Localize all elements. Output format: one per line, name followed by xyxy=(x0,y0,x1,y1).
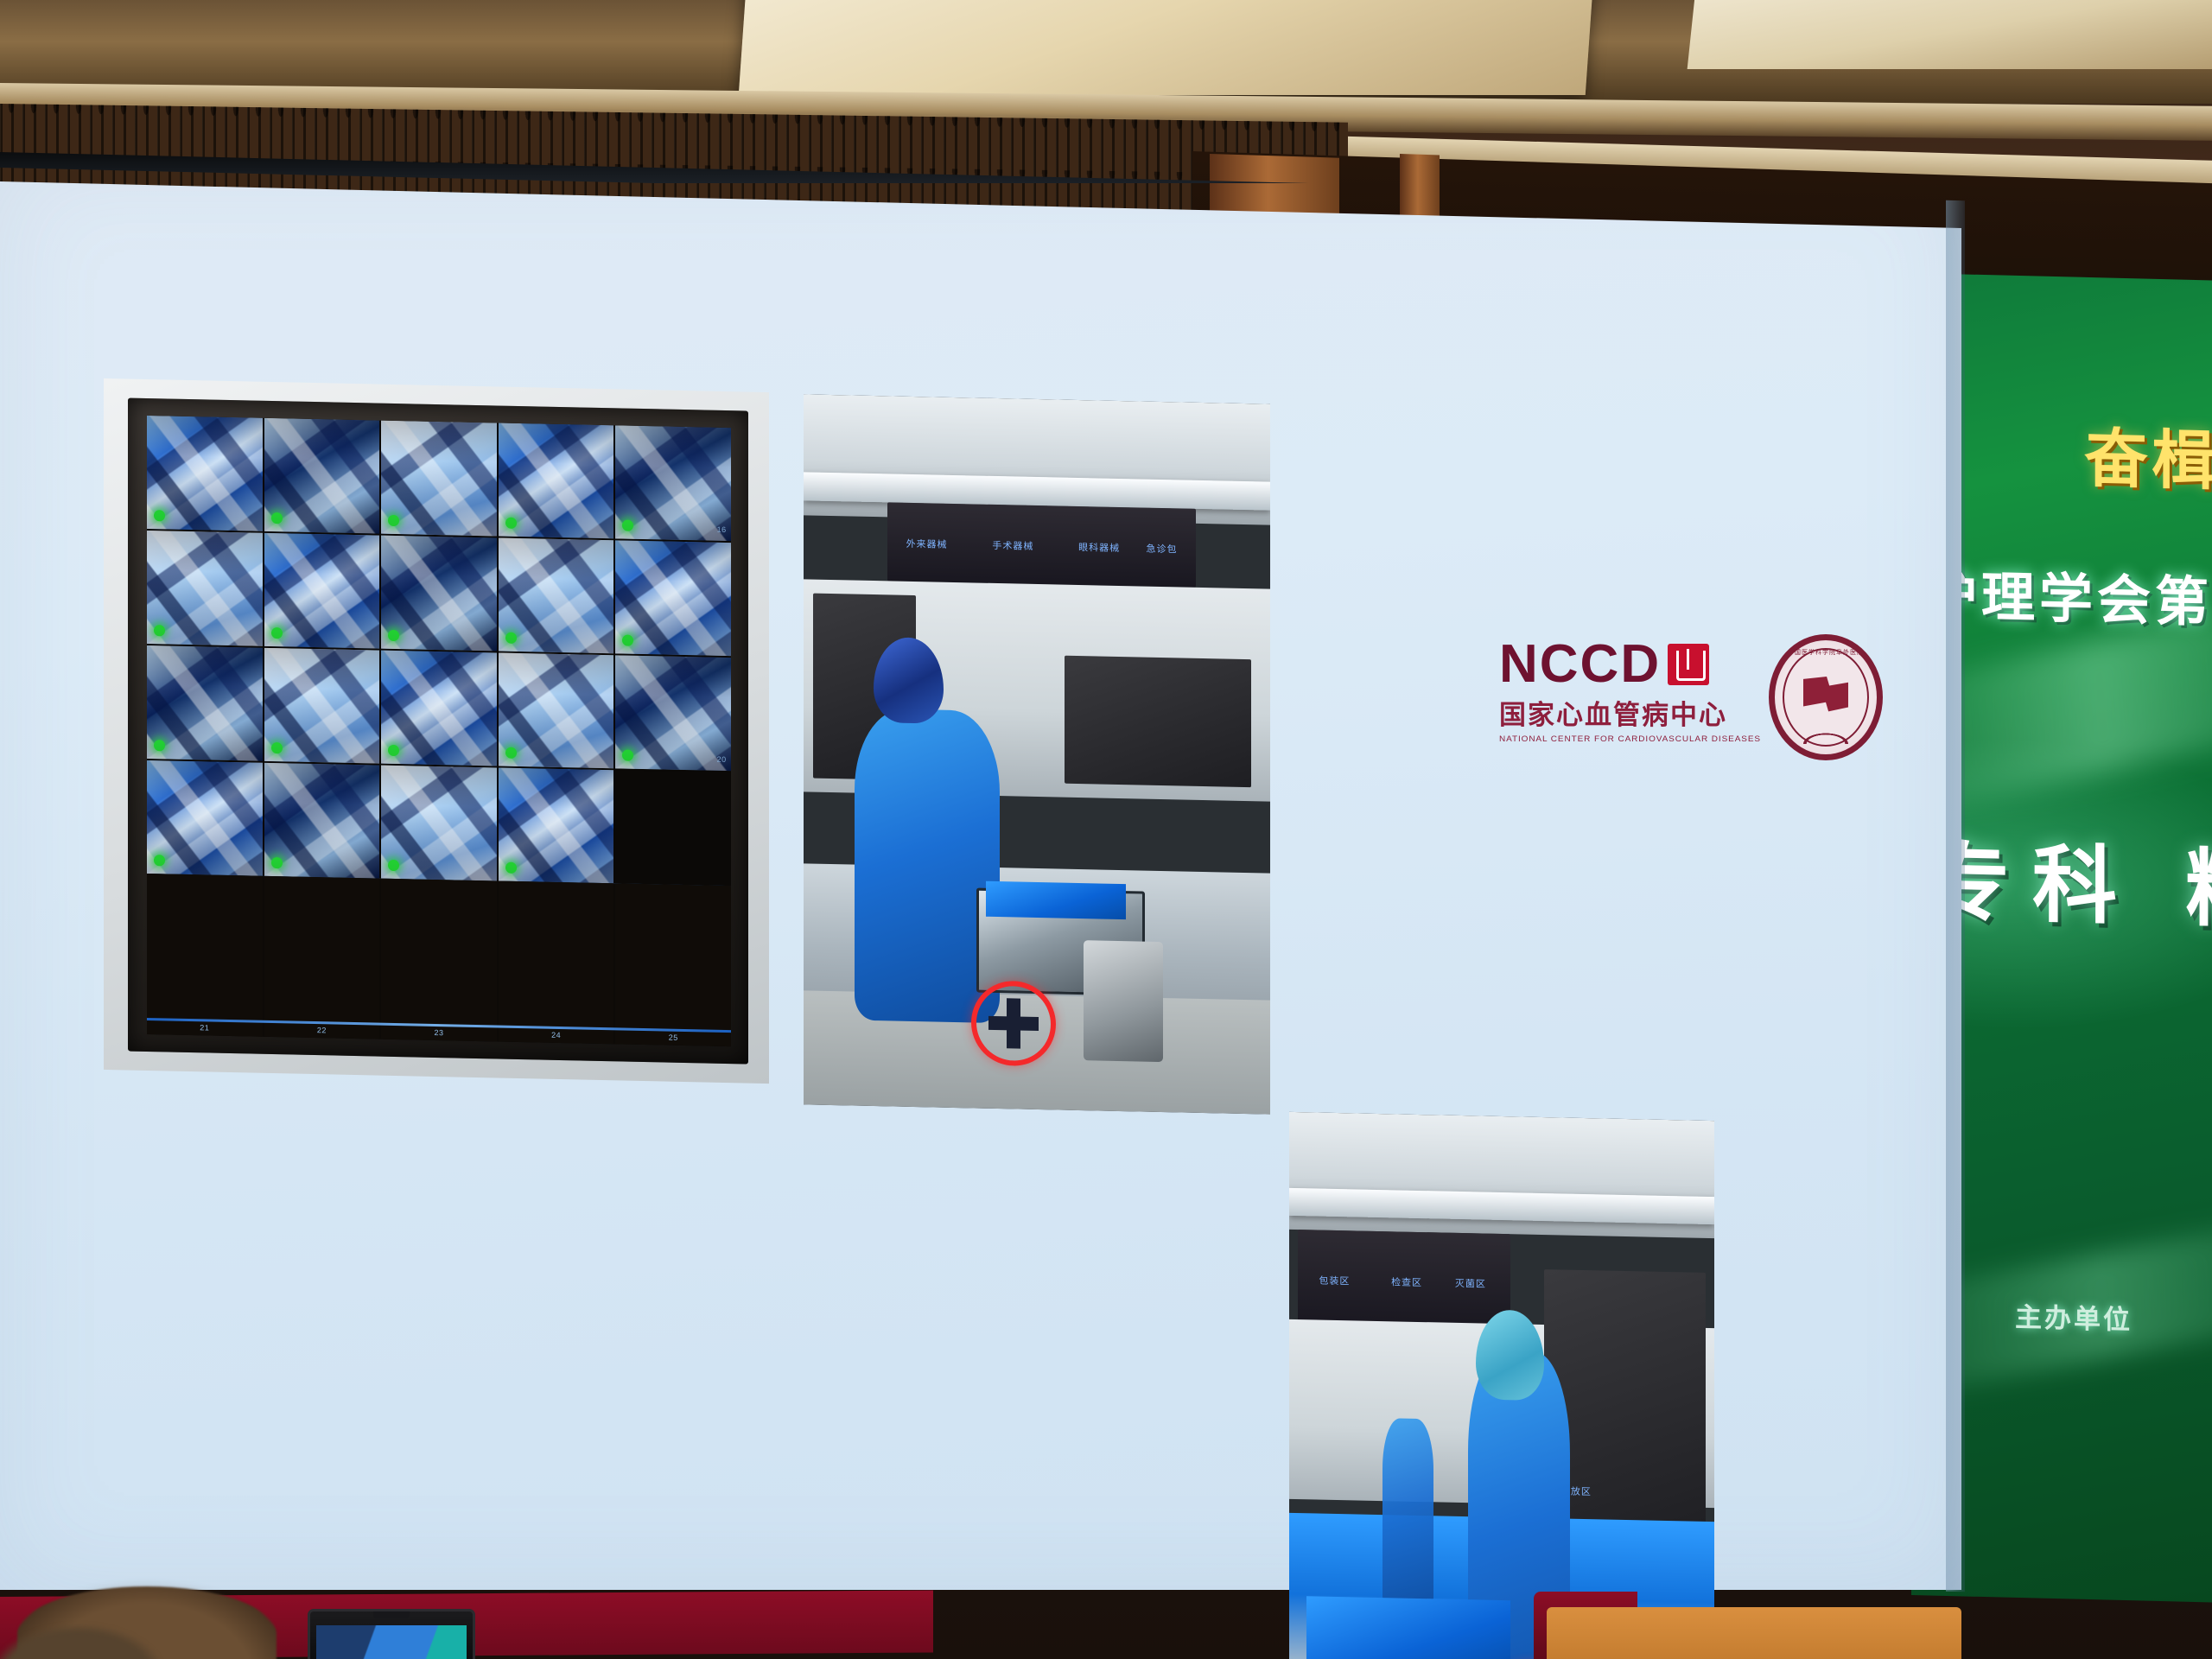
feed-status-dot xyxy=(388,630,399,641)
cctv-empty-cell[interactable]: 23 xyxy=(381,879,497,1042)
cctv-feed-cell[interactable] xyxy=(264,648,380,764)
feed-status-dot xyxy=(505,632,517,643)
cctv-empty-cell[interactable]: 25 xyxy=(615,883,731,1046)
shelf-label: 外来器械 xyxy=(906,537,948,551)
feed-label: 16 xyxy=(717,525,727,534)
feed-status-dot xyxy=(622,519,633,531)
feed-status-dot xyxy=(271,742,283,753)
empty-cell-label: 24 xyxy=(551,1031,561,1039)
seal-arc-text: 中国医学科学院阜外医院 xyxy=(1775,648,1877,657)
cctv-feed-cell[interactable]: 16 xyxy=(615,425,731,541)
cctv-feed-cell[interactable] xyxy=(147,760,263,876)
feed-status-dot xyxy=(505,517,517,528)
seal-flag-emblem xyxy=(1803,677,1848,718)
cctv-empty-cell[interactable]: 24 xyxy=(499,880,614,1044)
nccd-english-name: NATIONAL CENTER FOR CARDIOVASCULAR DISEA… xyxy=(1499,735,1761,744)
shelf-label: 包装区 xyxy=(1319,1274,1350,1288)
empty-cell-label: 23 xyxy=(434,1028,443,1037)
cctv-feed-cell[interactable] xyxy=(264,763,380,879)
nccd-logo: NCCD 国家心血管病中心 NATIONAL CENTER FOR CARDIO… xyxy=(1499,639,1761,745)
monitor-screen: 16 20 xyxy=(147,416,731,1046)
cctv-feed-cell[interactable] xyxy=(381,651,497,766)
feed-label: 20 xyxy=(717,755,727,764)
nccd-emblem-icon xyxy=(1668,644,1709,685)
ceiling-light-coffer xyxy=(739,0,1594,95)
cctv-feed-grid: 16 20 xyxy=(147,416,731,886)
cctv-feed-cell[interactable] xyxy=(499,767,614,883)
feed-status-dot xyxy=(388,860,399,871)
cctv-feed-cell[interactable] xyxy=(381,766,497,881)
fuwai-hospital-seal-icon: 中国医学科学院阜外医院 xyxy=(1769,634,1883,760)
cctv-feed-cell[interactable] xyxy=(381,536,497,652)
photo-surgical-cap-icon xyxy=(1476,1309,1544,1401)
monitor-bezel: 16 20 xyxy=(128,398,748,1065)
feed-status-dot xyxy=(388,515,399,526)
feed-status-dot xyxy=(622,634,633,645)
photo-blue-drape xyxy=(1306,1596,1510,1659)
photo-labeled-shelf: 包装区 检查区 灭菌区 xyxy=(1298,1230,1510,1331)
cctv-feed-cell[interactable] xyxy=(147,416,263,531)
shelf-label: 手术器械 xyxy=(992,538,1033,553)
feed-status-dot xyxy=(271,857,283,868)
cctv-feed-cell[interactable] xyxy=(499,423,614,539)
ceiling-light-coffer-right xyxy=(1688,0,2212,69)
feed-status-dot xyxy=(388,745,399,756)
photo-background-staff-figure xyxy=(1382,1418,1433,1612)
seal-laurel-icon xyxy=(1775,715,1877,744)
presentation-slide: NCCD 国家心血管病中心 NATIONAL CENTER FOR CARDIO… xyxy=(0,156,1961,1590)
cctv-feed-cell[interactable] xyxy=(499,652,614,768)
panel-seated-nurse-photo: 外来器械 手术器械 眼科器械 急诊包 xyxy=(804,394,1270,1114)
cctv-empty-cell[interactable]: 21 xyxy=(147,874,263,1037)
cctv-feed-cell[interactable] xyxy=(147,645,263,761)
cctv-feed-cell[interactable]: 20 xyxy=(615,655,731,771)
shelf-label: 眼科器械 xyxy=(1078,540,1120,555)
conference-hall-scene: 奋楫 中华护理学会第 专科 精 主办单位 NCCD 国家心血管病中心 NATIO… xyxy=(0,0,2212,1659)
feed-status-dot xyxy=(154,740,165,751)
shelf-label: 灭菌区 xyxy=(1455,1276,1486,1291)
photo-storage-bin xyxy=(1084,940,1163,1063)
feed-status-dot xyxy=(154,625,165,636)
cctv-feed-cell[interactable] xyxy=(499,537,614,653)
banner-theme-line: 专科 精 xyxy=(1925,813,2212,944)
photo-labeled-shelf: 外来器械 手术器械 眼科器械 急诊包 xyxy=(887,503,1195,588)
cctv-empty-cell[interactable]: 22 xyxy=(264,876,380,1039)
empty-cell-label: 25 xyxy=(669,1033,678,1042)
slide-logo-group: NCCD 国家心血管病中心 NATIONAL CENTER FOR CARDIO… xyxy=(1499,639,1862,752)
cctv-feed-cell[interactable] xyxy=(147,531,263,646)
phone-camera-icon xyxy=(373,1609,410,1618)
banner-organizer-label: 主办单位 xyxy=(2015,1295,2133,1337)
feed-status-dot xyxy=(505,861,517,873)
empty-cell-label: 21 xyxy=(200,1023,209,1032)
cctv-feed-cell[interactable] xyxy=(264,533,380,649)
panel-cctv-monitoring-wall: 16 20 xyxy=(104,378,769,1084)
audience-rail-panel xyxy=(1547,1607,1961,1659)
phone-screen xyxy=(316,1625,467,1659)
cctv-feed-cell[interactable] xyxy=(615,540,731,656)
empty-cell-label: 22 xyxy=(317,1026,327,1034)
photo-blue-drape xyxy=(986,881,1126,919)
nccd-acronym: NCCD xyxy=(1499,639,1661,690)
recording-smartphone[interactable] xyxy=(308,1609,475,1659)
cctv-feed-cell-empty[interactable] xyxy=(615,770,731,886)
cctv-feed-cell[interactable] xyxy=(264,418,380,534)
feed-status-dot xyxy=(154,510,165,521)
nccd-chinese-name: 国家心血管病中心 xyxy=(1499,693,1761,732)
shelf-label: 检查区 xyxy=(1391,1275,1422,1290)
audience-head-secondary xyxy=(0,1624,164,1659)
cctv-feed-cell[interactable] xyxy=(381,421,497,537)
feed-status-dot xyxy=(154,855,165,866)
panel-standing-nurse-photo: 包装区 检查区 灭菌区 发放区 xyxy=(1289,1112,1714,1659)
banner-gold-headline: 奋楫 xyxy=(2084,407,2212,503)
feed-status-dot xyxy=(271,627,283,639)
photo-cabinet xyxy=(1065,656,1251,787)
feed-status-dot xyxy=(622,749,633,760)
feed-status-dot xyxy=(271,512,283,524)
feed-status-dot xyxy=(505,747,517,758)
shelf-label: 急诊包 xyxy=(1147,542,1178,556)
